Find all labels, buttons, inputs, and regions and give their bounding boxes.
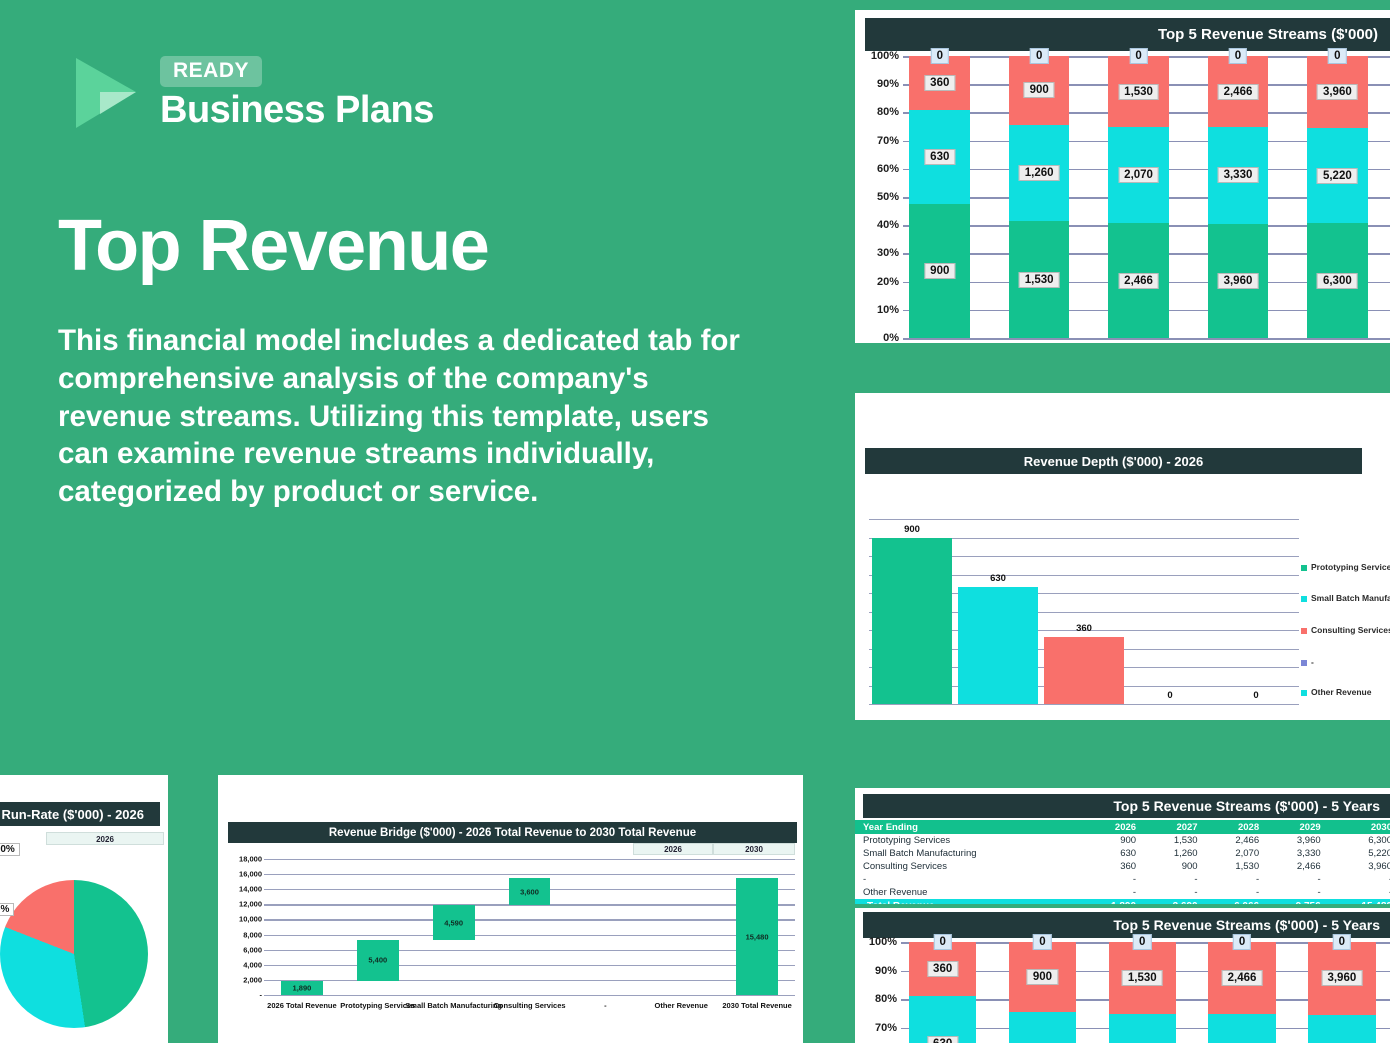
y-tick: 90% bbox=[877, 78, 899, 90]
y-tick: 100% bbox=[871, 50, 899, 62]
gridline bbox=[869, 519, 1299, 520]
pie-chart bbox=[0, 880, 148, 1028]
y-tick: 40% bbox=[877, 219, 899, 231]
pie-label-prototyping: 47.6% bbox=[0, 903, 14, 916]
bar-value-label-zero: 0 bbox=[1233, 934, 1251, 950]
pie-label-other: 0.0% bbox=[0, 843, 20, 856]
x-tick-label: 2026 Total Revenue bbox=[267, 1001, 336, 1010]
bar-value-label: 2,070 bbox=[1118, 167, 1159, 183]
chart-title-top5-main: Top 5 Revenue Streams ($'000) bbox=[865, 18, 1390, 51]
table-cell: - bbox=[1206, 873, 1268, 886]
chart-bars: 90063036001,5301,26090002,4662,0701,5300… bbox=[903, 56, 1390, 338]
table-cell: - bbox=[1206, 886, 1268, 899]
stacked-bar: 2,4662,0701,5300 bbox=[1108, 56, 1169, 338]
bar-value-label: 360 bbox=[1076, 623, 1092, 634]
bar-value-label: 630 bbox=[990, 573, 1006, 584]
chart-bars: 1,8905,4004,5903,60015,480 bbox=[264, 859, 795, 995]
legend-item: Consulting Services bbox=[1301, 625, 1386, 636]
bar-segment: 3,330 bbox=[1208, 127, 1269, 223]
page-title: Top Revenue bbox=[58, 205, 488, 287]
y-tick: 6,000 bbox=[243, 945, 262, 954]
legend-swatch bbox=[1301, 596, 1307, 602]
y-axis-labels: -2,0004,0006,0008,00010,00012,00014,0001… bbox=[230, 859, 264, 995]
bar-value-label: 6,300 bbox=[1317, 273, 1358, 289]
bar-value-label: 5,400 bbox=[368, 956, 387, 965]
bar-segment: 5,220 bbox=[1308, 1015, 1375, 1043]
bar-segment: 2,070 bbox=[1109, 1014, 1176, 1043]
bar-segment: 1,260 bbox=[1009, 125, 1070, 221]
table-cell: 1,530 bbox=[1206, 860, 1268, 873]
bar-value-label-zero: 0 bbox=[1229, 48, 1247, 64]
table-cell: - bbox=[1267, 873, 1329, 886]
bar-value-label: 5,220 bbox=[1317, 168, 1358, 184]
y-tick: 10,000 bbox=[239, 915, 262, 924]
table-cell: 2,466 bbox=[1267, 860, 1329, 873]
table-header-2028: 2028 bbox=[1206, 820, 1268, 834]
legend-item: Small Batch Manufacturing bbox=[1301, 593, 1386, 604]
stacked-bar: 9006303600 bbox=[909, 56, 970, 338]
y-tick: 30% bbox=[877, 247, 899, 259]
bar-segment: 900 bbox=[909, 204, 970, 338]
table-card-top5-5years: Top 5 Revenue Streams ($'000) - 5 Years … bbox=[855, 788, 1390, 904]
x-tick-label: - bbox=[604, 1001, 607, 1010]
table-header-2029: 2029 bbox=[1267, 820, 1329, 834]
bar-segment: 2,466 bbox=[1208, 942, 1275, 1014]
page-description: This financial model includes a dedicate… bbox=[58, 322, 758, 511]
brand-logo: READY Business Plans bbox=[62, 52, 434, 134]
bar-segment: 2,466 bbox=[1108, 223, 1169, 338]
table-cell: - bbox=[1144, 886, 1206, 899]
y-axis-labels: 100%90%80%70% bbox=[863, 942, 901, 1043]
x-tick-label: Prototyping Services bbox=[340, 1001, 415, 1010]
y-tick: 90% bbox=[875, 965, 897, 977]
bar-value-label: 3,960 bbox=[1317, 84, 1358, 100]
bar-value-label: 3,960 bbox=[1218, 273, 1259, 289]
table-cell-label: Small Batch Manufacturing bbox=[855, 847, 1083, 860]
bar-value-label-zero: 0 bbox=[931, 48, 949, 64]
year-tag: 2026 bbox=[46, 832, 164, 845]
bar-segment: 3,960 bbox=[1308, 942, 1375, 1015]
bar-segment: 1,530 bbox=[1109, 942, 1176, 1014]
bar-value-label: 1,890 bbox=[293, 983, 312, 992]
bar-value-label: 360 bbox=[924, 75, 955, 91]
bar-value-label-zero: 0 bbox=[1030, 48, 1048, 64]
table-cell: 1,530 bbox=[1144, 834, 1206, 847]
stacked-bar: 2,0701,5300 bbox=[1109, 942, 1176, 1043]
y-tick: 100% bbox=[869, 936, 897, 948]
bar-value-label-zero: 0 bbox=[1333, 934, 1351, 950]
bar-value-label: 4,590 bbox=[444, 918, 463, 927]
gridline bbox=[264, 995, 795, 996]
y-tick: 18,000 bbox=[239, 855, 262, 864]
bar-value-label: 2,466 bbox=[1222, 970, 1263, 986]
bar-value-label: 900 bbox=[904, 524, 920, 535]
chart-card-revenue-depth: Revenue Depth ($'000) - 2026 90063036000… bbox=[855, 393, 1390, 720]
legend-label: Consulting Services bbox=[1311, 625, 1386, 636]
table-header-2030: 2030 bbox=[1329, 820, 1390, 834]
table-header-year-ending: Year Ending bbox=[855, 820, 1083, 834]
bar-value-label: 900 bbox=[1024, 82, 1055, 98]
table-cell: 15,480 bbox=[1329, 899, 1390, 904]
x-tick-label: 2030 Total Revenue bbox=[722, 1001, 791, 1010]
y-tick: 16,000 bbox=[239, 870, 262, 879]
chart-bars: 63036001,26090002,0701,53003,3302,46605,… bbox=[901, 942, 1390, 1043]
chart-title-run-rate: Run-Rate ($'000) - 2026 bbox=[0, 802, 160, 826]
legend-swatch bbox=[1301, 660, 1307, 666]
bar-value-label: 0 bbox=[1253, 690, 1258, 701]
table-cell: 6,300 bbox=[1329, 834, 1390, 847]
table-cell: - bbox=[1329, 886, 1390, 899]
bar-segment: 5,220 bbox=[1307, 128, 1368, 223]
bar-segment: 1,530 bbox=[1009, 221, 1070, 338]
bar-segment: 2,466 bbox=[1208, 56, 1269, 127]
y-tick: 10% bbox=[877, 304, 899, 316]
bar-value-label-zero: 0 bbox=[1133, 934, 1151, 950]
y-tick: - bbox=[260, 991, 263, 1000]
chart-title-revenue-depth: Revenue Depth ($'000) - 2026 bbox=[865, 448, 1362, 474]
stacked-bar: 6,3005,2203,9600 bbox=[1307, 56, 1368, 338]
revenue-table: Year Ending 2026 2027 2028 2029 2030 Pro… bbox=[855, 820, 1390, 904]
bar-segment: 3,960 bbox=[1307, 56, 1368, 128]
x-tick-label: Small Batch Manufacturing bbox=[405, 1001, 502, 1010]
table-cell: 2,466 bbox=[1206, 834, 1268, 847]
table-row: Prototyping Services9001,5302,4663,9606,… bbox=[855, 834, 1390, 847]
legend-label: - bbox=[1311, 657, 1314, 668]
table-total-row: Total Revenue1,8903,6906,0669,75615,480 bbox=[855, 899, 1390, 904]
legend-item: - bbox=[1301, 657, 1314, 668]
bar-value-label: 630 bbox=[924, 149, 955, 165]
stacked-bar: 3,9603,3302,4660 bbox=[1208, 56, 1269, 338]
table-cell: 3,330 bbox=[1267, 847, 1329, 860]
bar-segment: 900 bbox=[1009, 942, 1076, 1012]
chart-plot-revenue-depth: 90063036000 bbox=[869, 519, 1299, 704]
y-tick: 50% bbox=[877, 191, 899, 203]
bar-segment: 1,530 bbox=[1108, 56, 1169, 127]
table-cell: 360 bbox=[1083, 860, 1145, 873]
bar-segment: 900 bbox=[1009, 56, 1070, 125]
chart-card-revenue-bridge: Revenue Bridge ($'000) - 2026 Total Reve… bbox=[218, 775, 803, 1043]
y-tick: 80% bbox=[875, 993, 897, 1005]
bar-value-label: 900 bbox=[924, 263, 955, 279]
legend-item: Other Revenue bbox=[1301, 687, 1371, 698]
table-row: Consulting Services3609001,5302,4663,960 bbox=[855, 860, 1390, 873]
bar-segment: 360 bbox=[909, 942, 976, 996]
bar bbox=[958, 587, 1037, 704]
table-row: Other Revenue----- bbox=[855, 886, 1390, 899]
legend-item: Prototyping Services bbox=[1301, 562, 1386, 573]
y-tick: 0% bbox=[883, 332, 899, 343]
y-tick: 70% bbox=[877, 135, 899, 147]
bar bbox=[1044, 637, 1123, 704]
bar-value-label: 900 bbox=[1027, 969, 1058, 985]
bar-value-label: 1,260 bbox=[1019, 165, 1060, 181]
table-header-2026: 2026 bbox=[1083, 820, 1145, 834]
table-cell: 2,070 bbox=[1206, 847, 1268, 860]
chart-card-top5-stacked-bottom: Top 5 Revenue Streams ($'000) - 5 Years … bbox=[855, 908, 1390, 1043]
gridline bbox=[903, 338, 1390, 340]
x-tick-label: Other Revenue bbox=[655, 1001, 708, 1010]
table-cell-label: Prototyping Services bbox=[855, 834, 1083, 847]
y-tick: 14,000 bbox=[239, 885, 262, 894]
y-axis-labels: 100%90%80%70%60%50%40%30%20%10%0% bbox=[865, 56, 903, 338]
bar-value-label: 360 bbox=[927, 961, 958, 977]
y-tick: 8,000 bbox=[243, 930, 262, 939]
chart-plot-top5-bottom: 100%90%80%70% 63036001,26090002,0701,530… bbox=[863, 942, 1390, 1043]
bridge-col-header-2030: 2030 bbox=[713, 843, 795, 855]
bar-value-label: 3,960 bbox=[1321, 970, 1362, 986]
table-cell: 1,890 bbox=[1083, 899, 1145, 904]
y-tick: 60% bbox=[877, 163, 899, 175]
bar-value-label: 3,600 bbox=[520, 887, 539, 896]
table-header-row: Year Ending 2026 2027 2028 2029 2030 bbox=[855, 820, 1390, 834]
legend-label: Prototyping Services bbox=[1311, 562, 1386, 573]
table-header-2027: 2027 bbox=[1144, 820, 1206, 834]
bar-segment: 2,070 bbox=[1108, 127, 1169, 223]
chart-plot-revenue-bridge: -2,0004,0006,0008,00010,00012,00014,0001… bbox=[230, 859, 795, 995]
bar-value-label: 3,330 bbox=[1218, 167, 1259, 183]
table-cell: 900 bbox=[1083, 834, 1145, 847]
table-cell: 1,260 bbox=[1144, 847, 1206, 860]
bar-value-label: 630 bbox=[927, 1036, 958, 1043]
table-cell-label: Consulting Services bbox=[855, 860, 1083, 873]
bar-value-label-zero: 0 bbox=[933, 934, 951, 950]
stacked-bar: 3,3302,4660 bbox=[1208, 942, 1275, 1043]
chart-card-top5-stacked-main: Top 5 Revenue Streams ($'000) 100%90%80%… bbox=[855, 10, 1390, 343]
bar-segment: 6,300 bbox=[1307, 223, 1368, 338]
y-tick: 70% bbox=[875, 1022, 897, 1034]
table-cell-label: Total Revenue bbox=[855, 899, 1083, 904]
bar bbox=[872, 538, 951, 705]
table-row: Small Batch Manufacturing6301,2602,0703,… bbox=[855, 847, 1390, 860]
table-cell: - bbox=[1267, 886, 1329, 899]
table-cell: 9,756 bbox=[1267, 899, 1329, 904]
chart-title-revenue-bridge: Revenue Bridge ($'000) - 2026 Total Reve… bbox=[228, 822, 797, 843]
bar-value-label-zero: 0 bbox=[1129, 48, 1147, 64]
legend-label: Other Revenue bbox=[1311, 687, 1371, 698]
chart-card-run-rate-pie: Run-Rate ($'000) - 2026 2026 47.6% 33.3%… bbox=[0, 775, 168, 1043]
legend-label: Small Batch Manufacturing bbox=[1311, 593, 1386, 604]
bar-value-label: 2,466 bbox=[1118, 273, 1159, 289]
y-tick: 12,000 bbox=[239, 900, 262, 909]
table-cell: - bbox=[1329, 873, 1390, 886]
bar-segment: 360 bbox=[909, 56, 970, 110]
y-tick: 2,000 bbox=[243, 975, 262, 984]
bar-segment: 3,960 bbox=[1208, 224, 1269, 338]
table-cell: 3,690 bbox=[1144, 899, 1206, 904]
bar-value-label: 1,530 bbox=[1118, 84, 1159, 100]
bar-value-label-zero: 0 bbox=[1033, 934, 1051, 950]
y-tick: 80% bbox=[877, 106, 899, 118]
table-cell: 630 bbox=[1083, 847, 1145, 860]
bar-value-label-zero: 0 bbox=[1328, 48, 1346, 64]
bridge-col-header-2026: 2026 bbox=[633, 843, 713, 855]
table-cell: - bbox=[1083, 886, 1145, 899]
gridline bbox=[869, 704, 1299, 705]
bar-segment: 630 bbox=[909, 110, 970, 204]
bar-value-label: 1,530 bbox=[1122, 970, 1163, 986]
table-cell: 3,960 bbox=[1329, 860, 1390, 873]
legend-swatch bbox=[1301, 628, 1307, 634]
table-cell-label: Other Revenue bbox=[855, 886, 1083, 899]
chart-plot-top5-main: 100%90%80%70%60%50%40%30%20%10%0% 900630… bbox=[865, 56, 1390, 338]
bar-segment: 1,260 bbox=[1009, 1012, 1076, 1043]
bar-value-label: 0 bbox=[1167, 690, 1172, 701]
table-cell: 3,960 bbox=[1267, 834, 1329, 847]
table-cell: - bbox=[1083, 873, 1145, 886]
table-cell-label: - bbox=[855, 873, 1083, 886]
legend-swatch bbox=[1301, 690, 1307, 696]
bar-segment: 3,330 bbox=[1208, 1014, 1275, 1043]
stacked-bar: 5,2203,9600 bbox=[1308, 942, 1375, 1043]
x-tick-label: Consulting Services bbox=[493, 1001, 565, 1010]
bar-value-label: 2,466 bbox=[1218, 84, 1259, 100]
brand-name: Business Plans bbox=[160, 91, 434, 131]
table-cell: - bbox=[1144, 873, 1206, 886]
bar-value-label: 15,480 bbox=[746, 932, 769, 941]
table-title-top5: Top 5 Revenue Streams ($'000) - 5 Years bbox=[863, 794, 1390, 818]
y-tick: 20% bbox=[877, 276, 899, 288]
stacked-bar: 1,5301,2609000 bbox=[1009, 56, 1070, 338]
bar-value-label: 1,530 bbox=[1019, 272, 1060, 288]
bar-segment: 630 bbox=[909, 996, 976, 1043]
stacked-bar: 1,2609000 bbox=[1009, 942, 1076, 1043]
play-triangle-icon bbox=[62, 52, 144, 134]
table-cell: 5,220 bbox=[1329, 847, 1390, 860]
ready-badge: READY bbox=[160, 56, 262, 87]
legend-swatch bbox=[1301, 565, 1307, 571]
table-row: ------ bbox=[855, 873, 1390, 886]
y-tick: 4,000 bbox=[243, 960, 262, 969]
stacked-bar: 6303600 bbox=[909, 942, 976, 1043]
table-cell: 6,066 bbox=[1206, 899, 1268, 904]
table-cell: 900 bbox=[1144, 860, 1206, 873]
